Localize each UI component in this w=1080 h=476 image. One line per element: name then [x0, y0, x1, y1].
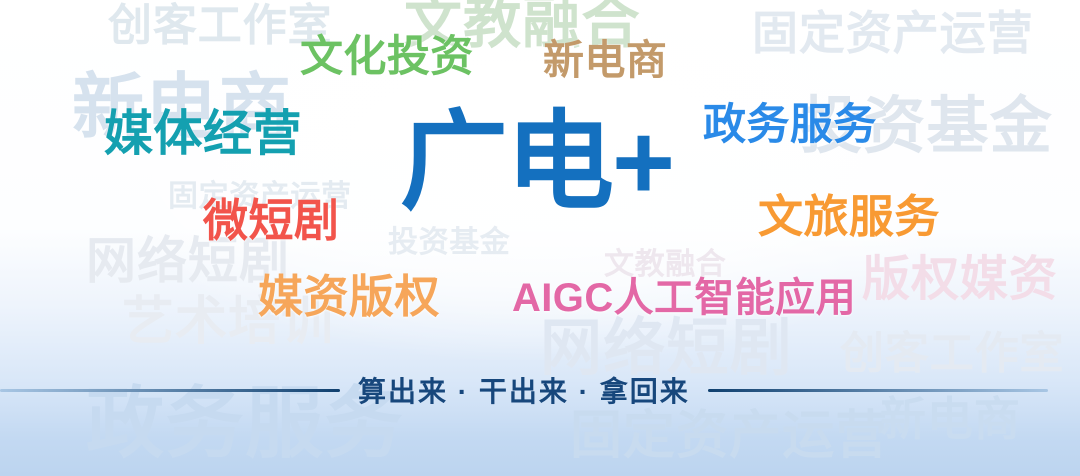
keyword-8[interactable]: AIGC人工智能应用 — [512, 278, 856, 318]
keyword-6[interactable]: 文旅服务 — [758, 194, 940, 239]
watermark-word: 固定资产运营 — [570, 410, 888, 462]
tagline-text: 算出来 · 干出来 · 拿回来 — [358, 370, 690, 410]
tagline-rule-left — [0, 389, 340, 392]
promo-banner: 创客工作室文教融合固定资产运营新电商投资基金固定资产运营投资基金文教融合网络短剧… — [0, 0, 1080, 476]
watermark-word: 创客工作室 — [108, 4, 332, 48]
keyword-1[interactable]: 文化投资 — [300, 36, 474, 79]
keyword-4[interactable]: 政务服务 — [703, 104, 877, 147]
tagline-row: 算出来 · 干出来 · 拿回来 — [0, 368, 1080, 412]
keyword-5[interactable]: 微短剧 — [203, 198, 339, 243]
hero-title: 广电+ — [400, 108, 673, 216]
keyword-3[interactable]: 媒体经营 — [104, 110, 302, 159]
watermark-word: 投资基金 — [388, 228, 510, 258]
keyword-2[interactable]: 新电商 — [543, 40, 667, 81]
watermark-word: 版权媒资 — [862, 256, 1058, 304]
watermark-word: 固定资产运营 — [752, 10, 1034, 56]
tagline-rule-right — [708, 389, 1048, 392]
keyword-7[interactable]: 媒资版权 — [258, 274, 440, 319]
